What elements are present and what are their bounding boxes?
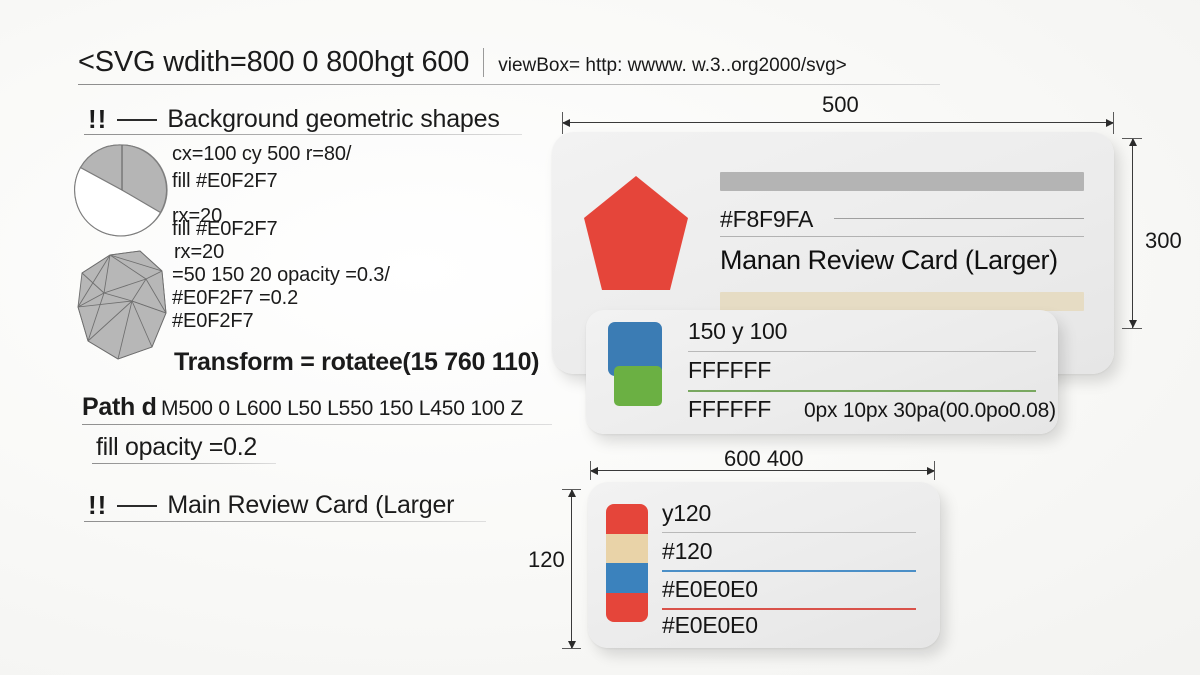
small-row-1-text: #120: [662, 538, 712, 565]
overlay-rule-1: [688, 390, 1036, 392]
section-heading-background-shapes: !! Background geometric shapes: [88, 104, 500, 135]
overlay-shadow-note-text: 0px 10px 30pa(00.0po0.08): [804, 399, 1056, 423]
overlay-detail-card[interactable]: 150 y 100 FFFFFF FFFFFF 0px 10px 30pa(00…: [586, 310, 1058, 434]
color-strip: [606, 504, 648, 622]
pie-circle-figure: [72, 142, 172, 243]
fill-opacity-line: fill opacity =0.2: [96, 433, 257, 462]
hex-row-rule-2: [720, 236, 1084, 237]
strip-segment-0: [606, 504, 648, 534]
hex-row: #F8F9FA: [720, 206, 813, 233]
diagram-canvas: <SVG wdith=800 0 800hgt 600 viewBox= htt…: [0, 0, 1200, 675]
section-marker: !!: [88, 490, 107, 521]
transform-line: Transform = rotatee(15 760 110): [174, 348, 539, 377]
small-row-0-text: y120: [662, 500, 711, 527]
section-label: Background geometric shapes: [167, 105, 499, 134]
small-rule-1: [662, 570, 916, 572]
section-dash-icon: [117, 119, 157, 121]
note-blob-3: #E0F2F7: [172, 310, 254, 333]
note-blob-2: #E0F2F7 =0.2: [172, 287, 298, 310]
small-row-3: #E0E0E0: [662, 612, 758, 639]
transform-value: e(15 760 110): [389, 348, 539, 376]
overlay-rule-0: [688, 351, 1036, 352]
small-row-0: y120: [662, 500, 711, 527]
header-row: <SVG wdith=800 0 800hgt 600 viewBox= htt…: [78, 46, 940, 79]
dim-label-main-width: 500: [822, 92, 859, 118]
bottom-tan-bar: [720, 292, 1084, 311]
small-row-2-text: #E0E0E0: [662, 576, 758, 603]
note-circle-0: cx=100 cy 500 r=80/: [172, 143, 351, 166]
dim-tick-right: [1113, 112, 1114, 134]
note-circle-1: fill #E0F2F7: [172, 170, 278, 193]
note-blob-0: rx=20: [174, 241, 224, 264]
small-row-1: #120: [662, 538, 712, 565]
strip-segment-3: [606, 593, 648, 623]
dim-tick-right-small: [934, 461, 935, 480]
small-rule-2: [662, 608, 916, 610]
main-card-title: Manan Review Card (Larger): [720, 245, 1058, 276]
section-heading-main-review-card: !! Main Review Card (Larger: [88, 490, 454, 521]
fill-opacity-underline: [92, 463, 276, 464]
dim-tick-left-small: [590, 461, 591, 480]
section-underline: [84, 134, 522, 135]
svg-tag-title: <SVG wdith=800 0 800hgt 600: [78, 46, 483, 79]
dim-label-main-height: 300: [1145, 228, 1182, 254]
overlay-row-1-text: FFFFFF: [688, 357, 771, 384]
overlay-row-0-text: 150 y 100: [688, 318, 787, 345]
strip-segment-1: [606, 534, 648, 564]
note-circle-3: fill #E0F2F7: [172, 218, 278, 241]
dim-line-main-width: [562, 122, 1114, 123]
header: <SVG wdith=800 0 800hgt 600 viewBox= htt…: [78, 46, 940, 85]
path-line: Path d M500 0 L600 L50 L550 150 L450 100…: [82, 393, 523, 422]
dim-label-small-width: 600 400: [724, 446, 804, 472]
overlay-shadow-note: 0px 10px 30pa(00.0po0.08): [804, 399, 1056, 423]
dim-line-main-height: [1132, 138, 1133, 328]
hex-value: #F8F9FA: [720, 206, 813, 233]
header-divider: [483, 48, 484, 77]
dim-label-small-height: 120: [528, 547, 565, 573]
dim-tick-left: [562, 112, 563, 134]
dim-line-small-height: [571, 489, 572, 649]
strip-segment-2: [606, 563, 648, 593]
section-dash-icon: [117, 505, 157, 507]
section-marker: !!: [88, 104, 107, 135]
dim-tick-bottom: [1122, 328, 1142, 329]
small-row-2: #E0E0E0: [662, 576, 758, 603]
header-rule: [78, 84, 940, 85]
dim-tick-top: [1122, 138, 1142, 139]
dim-tick-bottom-small: [562, 648, 581, 649]
small-rule-0: [662, 532, 916, 533]
viewbox-note: viewBox= http: wwww. w.3..org2000/svg>: [498, 55, 847, 77]
overlay-row-2: FFFFFF: [688, 396, 771, 423]
swatch-green: [614, 366, 662, 406]
overlay-row-1: FFFFFF: [688, 357, 771, 384]
hex-row-rule: [834, 218, 1084, 219]
pentagon-icon: [580, 172, 692, 305]
path-underline: [82, 424, 552, 425]
dim-line-small-width: [590, 470, 935, 471]
overlay-row-2-text: FFFFFF: [688, 396, 771, 423]
section-label: Main Review Card (Larger: [167, 491, 454, 520]
dim-tick-top-small: [562, 489, 581, 490]
path-label: Path d: [82, 393, 157, 421]
section-underline: [84, 521, 486, 522]
top-gray-bar: [720, 172, 1084, 191]
overlay-row-0: 150 y 100: [688, 318, 787, 345]
path-value: M500 0 L600 L50 L550 150 L450 100 Z: [161, 397, 523, 420]
small-row-3-text: #E0E0E0: [662, 612, 758, 639]
triangulated-blob-figure: [74, 249, 178, 366]
transform-label: Transform = rotate: [174, 348, 389, 376]
small-review-card[interactable]: y120 #120 #E0E0E0 #E0E0E0: [588, 482, 940, 648]
note-blob-1: =50 150 20 opacity =0.3/: [172, 264, 390, 287]
